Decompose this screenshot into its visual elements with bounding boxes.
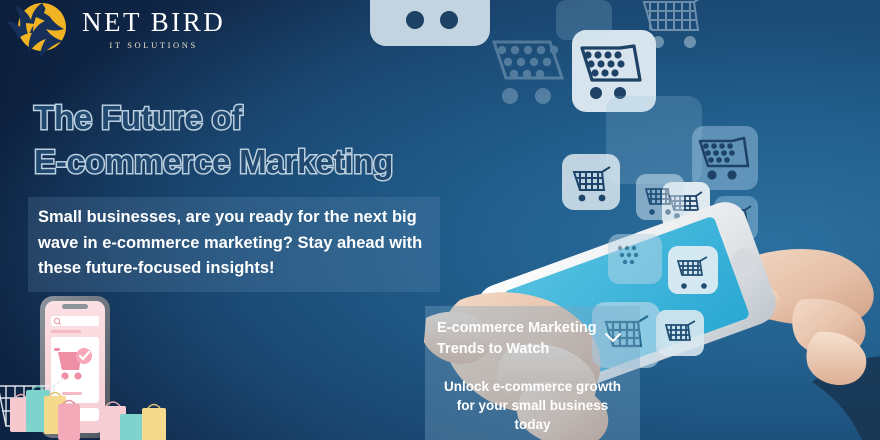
brand-tagline: IT SOLUTIONS: [109, 41, 197, 50]
hero-description: Small businesses, are you ready for the …: [28, 197, 440, 292]
marketing-banner: NET BIRD IT SOLUTIONS The Future of E-co…: [0, 0, 880, 440]
cart-tile-icon: [636, 0, 714, 60]
brand-name: NET BIRD: [82, 9, 225, 36]
page-title: The Future of E-commerce Marketing: [34, 96, 393, 183]
brand-logo[interactable]: NET BIRD IT SOLUTIONS: [6, 0, 225, 62]
cart-tile-icon: [488, 34, 584, 112]
cart-tile-icon: [556, 0, 612, 40]
callout-subtitle: Unlock e-commerce growth for your small …: [437, 377, 628, 434]
callout-title: E-commerce Marketing Trends to Watch: [437, 318, 628, 359]
callout-card[interactable]: E-commerce Marketing Trends to Watch Unl…: [425, 306, 640, 440]
chevron-down-icon[interactable]: [604, 332, 622, 344]
cart-tile-icon: [370, 0, 490, 46]
cart-tile-icon: [572, 30, 656, 112]
smartphone-shopping-illustration: [0, 286, 172, 440]
phoenix-bird-icon: [6, 1, 80, 61]
